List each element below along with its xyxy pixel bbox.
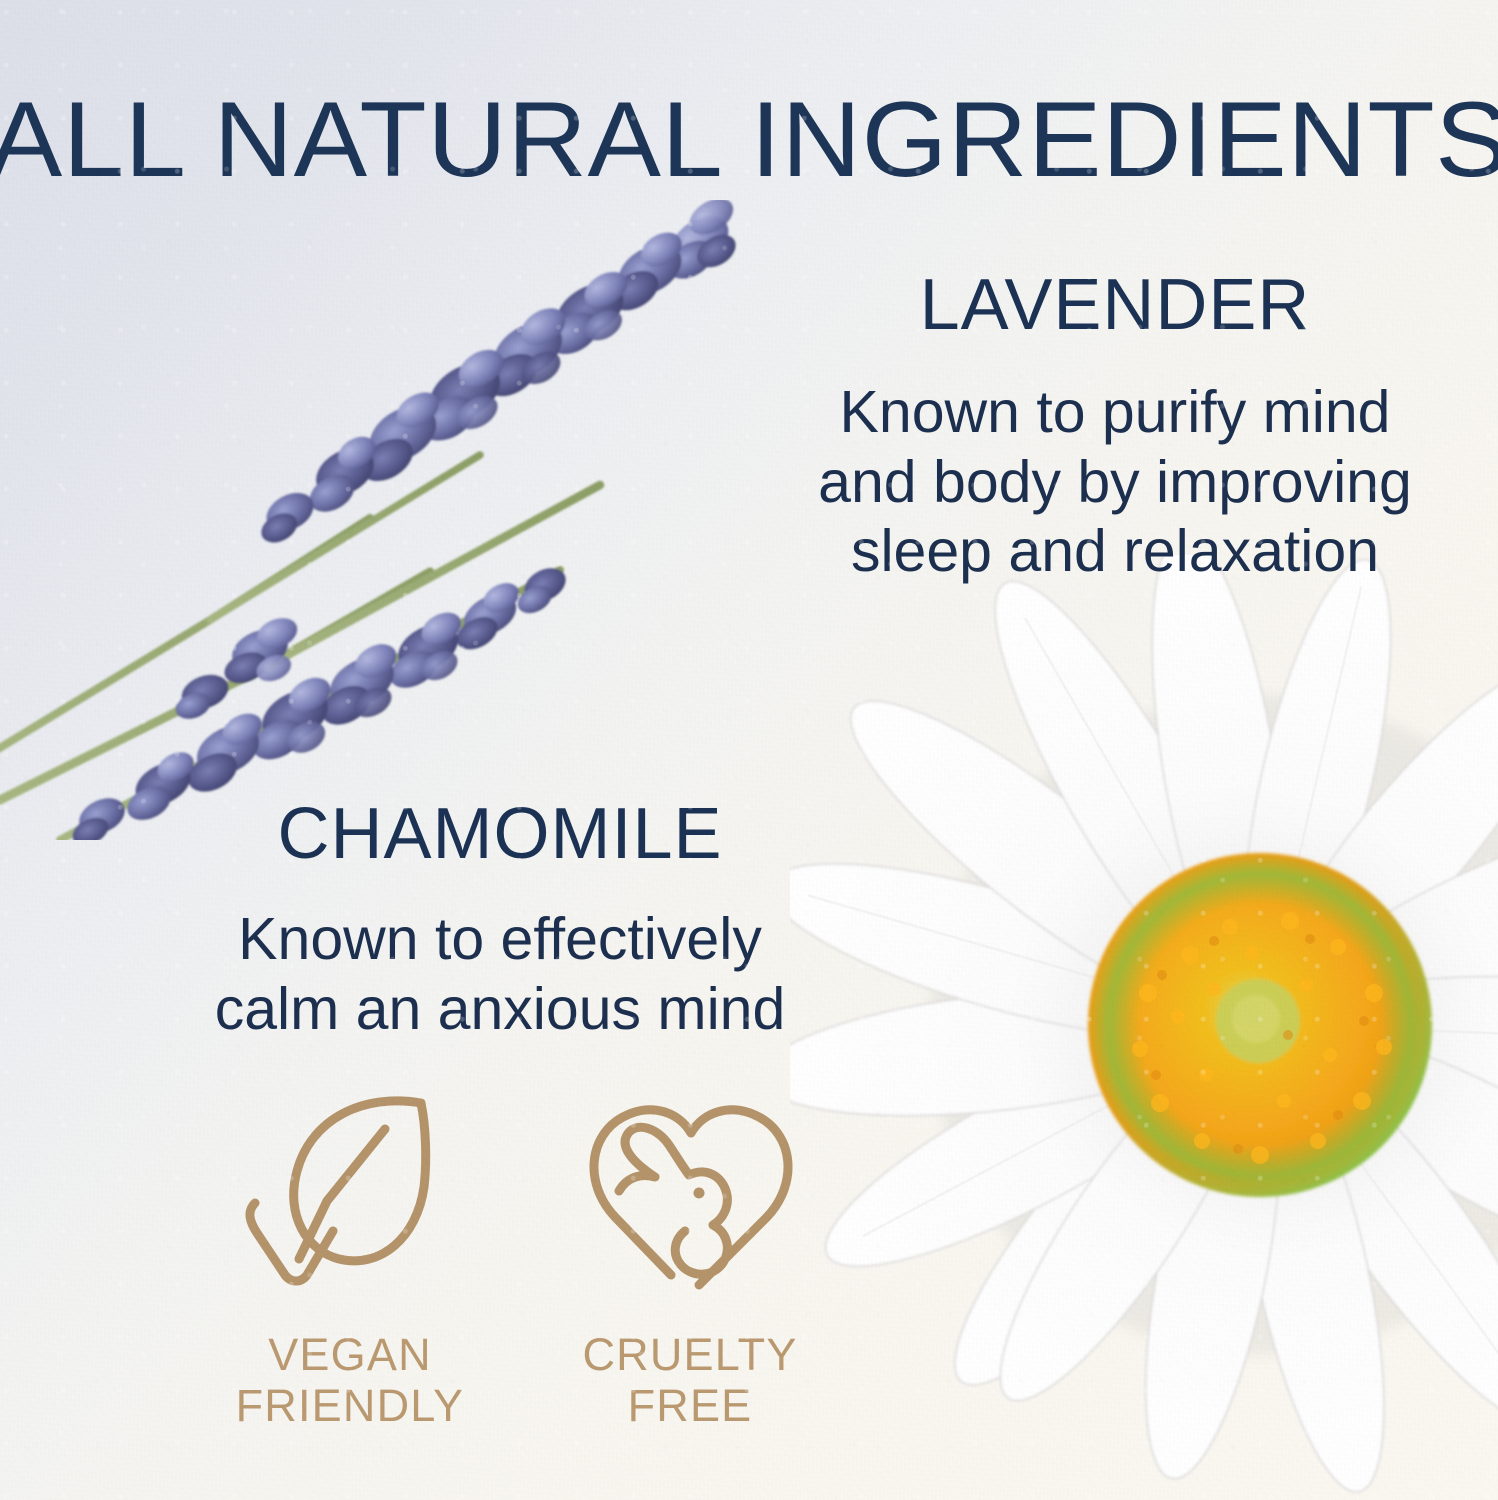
leaf-check-icon [200,1070,500,1318]
ingredient-description-lavender: Known to purify mind and body by improvi… [785,378,1445,587]
badge-cruelty-free: CRUELTY FREE [540,1070,840,1432]
infographic-canvas: ALL NATURAL INGREDIENTS LAVENDER Known t… [0,0,1498,1500]
page-title: ALL NATURAL INGREDIENTS [0,86,1498,193]
ingredient-heading-chamomile: CHAMOMILE [175,798,825,870]
badge-label-cruelty-line1: CRUELTY [540,1330,840,1381]
badge-label-vegan-line2: FRIENDLY [200,1381,500,1432]
lavender-sprigs-photo [0,200,820,840]
ingredient-description-chamomile: Known to effectively calm an anxious min… [175,905,825,1044]
badge-label-cruelty: CRUELTY FREE [540,1330,840,1432]
chamomile-daisy-photo [790,555,1498,1500]
badge-label-vegan: VEGAN FRIENDLY [200,1330,500,1432]
badge-vegan-friendly: VEGAN FRIENDLY [200,1070,500,1432]
ingredient-heading-lavender: LAVENDER [785,269,1445,341]
heart-bunny-icon [540,1070,840,1318]
badge-label-cruelty-line2: FREE [540,1381,840,1432]
badge-label-vegan-line1: VEGAN [200,1330,500,1381]
